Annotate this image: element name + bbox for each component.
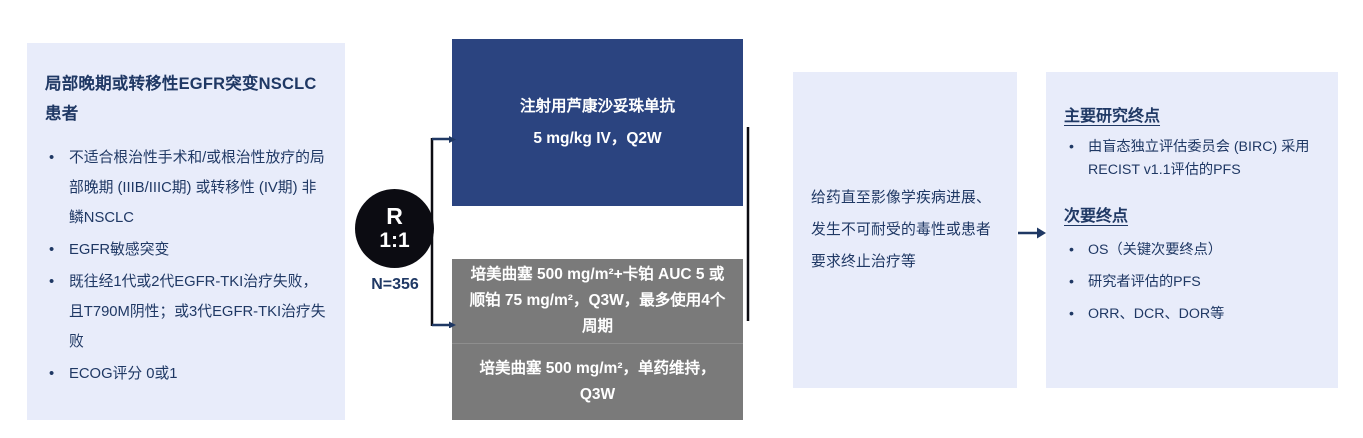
bullet-icon: • [1069, 268, 1074, 296]
list-item: • 由盲态独立评估委员会 (BIRC) 采用RECIST v1.1评估的PFS [1064, 136, 1324, 182]
experimental-arm-drug: 注射用芦康沙妥珠单抗 [520, 91, 675, 123]
experimental-arm-text: 注射用芦康沙妥珠单抗 5 mg/kg IV，Q2W [506, 91, 689, 155]
list-item: • ECOG评分 0或1 [45, 359, 329, 389]
list-item: • ORR、DCR、DOR等 [1064, 300, 1324, 328]
secondary-endpoint-text: 研究者评估的PFS [1088, 274, 1201, 290]
randomization-sample-size: N=356 [352, 276, 438, 294]
control-arm-maintenance: 培美曲塞 500 mg/m²，单药维持，Q3W [452, 344, 743, 420]
randomization-ratio: 1:1 [379, 229, 409, 253]
list-item: • OS（关键次要终点） [1064, 236, 1324, 264]
control-arm-induction-text: 培美曲塞 500 mg/m²+卡铂 AUC 5 或 顺铂 75 mg/m²，Q3… [452, 262, 743, 340]
list-item: • 研究者评估的PFS [1064, 268, 1324, 296]
bullet-icon: • [49, 143, 54, 173]
bullet-icon: • [49, 359, 54, 389]
primary-endpoints-heading: 主要研究终点 [1064, 104, 1324, 130]
bullet-icon: • [49, 235, 54, 265]
secondary-endpoints-heading: 次要终点 [1064, 204, 1324, 230]
list-item: • 不适合根治性手术和/或根治性放疗的局部晚期 (IIIB/IIIC期) 或转移… [45, 143, 329, 233]
bullet-icon: • [49, 267, 54, 297]
eligibility-panel: 局部晚期或转移性EGFR突变NSCLC患者 • 不适合根治性手术和/或根治性放疗… [27, 43, 345, 420]
randomization-letter: R [386, 204, 403, 229]
eligibility-criterion-text: 不适合根治性手术和/或根治性放疗的局部晚期 (IIIB/IIIC期) 或转移性 … [69, 150, 325, 226]
bullet-icon: • [1069, 300, 1074, 328]
eligibility-criteria-list: • 不适合根治性手术和/或根治性放疗的局部晚期 (IIIB/IIIC期) 或转移… [45, 143, 329, 389]
eligibility-criterion-text: EGFR敏感突变 [69, 242, 169, 258]
treatment-duration-text: 给药直至影像学疾病进展、发生不可耐受的毒性或患者要求终止治疗等 [811, 182, 999, 278]
secondary-endpoint-text: OS（关键次要终点） [1088, 242, 1222, 258]
primary-endpoint-text: 由盲态独立评估委员会 (BIRC) 采用RECIST v1.1评估的PFS [1088, 139, 1309, 178]
list-item: • 既往经1代或2代EGFR-TKI治疗失败，且T790M阴性；或3代EGFR-… [45, 267, 329, 357]
eligibility-criterion-text: ECOG评分 0或1 [69, 366, 178, 382]
flow-arrow-right-icon [1018, 221, 1046, 245]
experimental-arm-dose: 5 mg/kg IV，Q2W [520, 123, 675, 155]
list-item: • EGFR敏感突变 [45, 235, 329, 265]
treatment-duration-panel: 给药直至影像学疾病进展、发生不可耐受的毒性或患者要求终止治疗等 [793, 72, 1017, 388]
primary-endpoints-list: • 由盲态独立评估委员会 (BIRC) 采用RECIST v1.1评估的PFS [1064, 136, 1324, 182]
bullet-icon: • [1069, 236, 1074, 264]
eligibility-criterion-text: 既往经1代或2代EGFR-TKI治疗失败，且T790M阴性；或3代EGFR-TK… [69, 274, 326, 350]
secondary-endpoint-text: ORR、DCR、DOR等 [1088, 306, 1224, 322]
bullet-icon: • [1069, 136, 1074, 159]
endpoints-panel: 主要研究终点 • 由盲态独立评估委员会 (BIRC) 采用RECIST v1.1… [1046, 72, 1338, 388]
secondary-endpoints-list: • OS（关键次要终点） • 研究者评估的PFS • ORR、DCR、DOR等 [1064, 236, 1324, 328]
control-arm-maintenance-text: 培美曲塞 500 mg/m²，单药维持，Q3W [452, 356, 743, 408]
experimental-arm-box: 注射用芦康沙妥珠单抗 5 mg/kg IV，Q2W [452, 39, 743, 206]
arms-merge-line [744, 126, 754, 322]
control-arm-box: 培美曲塞 500 mg/m²+卡铂 AUC 5 或 顺铂 75 mg/m²，Q3… [452, 259, 743, 420]
eligibility-title: 局部晚期或转移性EGFR突变NSCLC患者 [45, 69, 329, 129]
randomization-node: R 1:1 [355, 189, 434, 268]
control-arm-induction: 培美曲塞 500 mg/m²+卡铂 AUC 5 或 顺铂 75 mg/m²，Q3… [452, 259, 743, 344]
